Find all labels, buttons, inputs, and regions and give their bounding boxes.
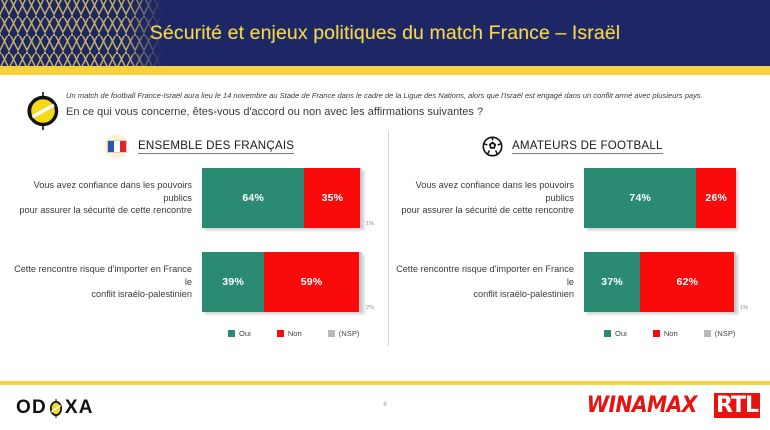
panel-ensemble-des-francais: ENSEMBLE DES FRANÇAIS Vous avez confianc… bbox=[10, 131, 386, 376]
chart-legend-left: Oui Non (NSP) bbox=[10, 329, 386, 338]
bar-segment-non: 62% bbox=[640, 252, 734, 312]
row-label-line2: pour assurer la sécurité de cette rencon… bbox=[392, 204, 574, 217]
odoxa-logo-icon bbox=[25, 91, 61, 131]
bar-segment-oui: 64% bbox=[202, 168, 304, 228]
winamax-logo: WINAMAX bbox=[587, 393, 697, 418]
bar-segment-non: 59% bbox=[264, 252, 358, 312]
bar-segment-nsp bbox=[359, 252, 362, 312]
legend-label-oui: Oui bbox=[239, 329, 251, 338]
row-label-line1: Cette rencontre risque d'importer en Fra… bbox=[396, 264, 574, 287]
legend-label-nsp: (NSP) bbox=[339, 329, 360, 338]
row-label-line2: conflit israélo-palestinien bbox=[392, 288, 574, 301]
legend-item-non: Non bbox=[277, 329, 302, 338]
stacked-bar: 74% 26% bbox=[584, 168, 736, 228]
bar-value-non: 59% bbox=[301, 276, 323, 288]
legend-swatch-oui bbox=[604, 330, 611, 337]
legend-item-oui: Oui bbox=[604, 329, 627, 338]
panel-title-left: ENSEMBLE DES FRANÇAIS bbox=[138, 139, 294, 154]
legend-item-oui: Oui bbox=[228, 329, 251, 338]
bar-value-non: 35% bbox=[322, 192, 344, 204]
legend-item-nsp: (NSP) bbox=[328, 329, 360, 338]
chart-row: Vous avez confiance dans les pouvoirs pu… bbox=[10, 167, 386, 229]
rtl-logo: RTL bbox=[714, 393, 760, 418]
panel-title-right: AMATEURS DE FOOTBALL bbox=[512, 139, 663, 154]
row-label-line1: Cette rencontre risque d'importer en Fra… bbox=[14, 264, 192, 287]
row-label: Cette rencontre risque d'importer en Fra… bbox=[10, 263, 202, 301]
header-accent-rule bbox=[0, 66, 770, 75]
intro-question-text: En ce qui vous concerne, êtes-vous d'acc… bbox=[66, 104, 766, 121]
bar-value-nsp: 2% bbox=[366, 305, 374, 311]
legend-label-non: Non bbox=[288, 329, 302, 338]
bar-segment-oui: 37% bbox=[584, 252, 640, 312]
panel-amateurs-de-football: AMATEURS DE FOOTBALL Vous avez confiance… bbox=[392, 131, 768, 376]
stacked-bar: 37% 62% 1% bbox=[584, 252, 736, 312]
legend-swatch-oui bbox=[228, 330, 235, 337]
bar-segment-non: 26% bbox=[696, 168, 736, 228]
panel-header-left: ENSEMBLE DES FRANÇAIS bbox=[10, 131, 386, 161]
stacked-bar: 64% 35% 1% bbox=[202, 168, 362, 228]
bar-segment-oui: 74% bbox=[584, 168, 696, 228]
legend-swatch-nsp bbox=[704, 330, 711, 337]
bar-segment-nsp bbox=[360, 168, 362, 228]
french-flag-icon bbox=[104, 134, 129, 159]
chart-row: Cette rencontre risque d'importer en Fra… bbox=[10, 251, 386, 313]
bar-segment-oui: 39% bbox=[202, 252, 264, 312]
bar-value-oui: 39% bbox=[222, 276, 244, 288]
bar-value-oui: 64% bbox=[242, 192, 264, 204]
legend-item-nsp: (NSP) bbox=[704, 329, 736, 338]
bar-segment-non: 35% bbox=[304, 168, 360, 228]
panel-divider bbox=[388, 131, 389, 346]
chart-rows-left: Vous avez confiance dans les pouvoirs pu… bbox=[10, 167, 386, 313]
row-label: Vous avez confiance dans les pouvoirs pu… bbox=[392, 179, 584, 217]
intro-block: Un match de football France-Israël aura … bbox=[66, 90, 766, 121]
chart-row: Vous avez confiance dans les pouvoirs pu… bbox=[392, 167, 768, 229]
legend-item-non: Non bbox=[653, 329, 678, 338]
legend-label-non: Non bbox=[664, 329, 678, 338]
chart-legend-right: Oui Non (NSP) bbox=[392, 329, 768, 338]
partner-logos: WINAMAX RTL bbox=[582, 393, 760, 418]
bar-value-non: 62% bbox=[677, 276, 699, 288]
intro-context-text: Un match de football France-Israël aura … bbox=[66, 90, 766, 102]
row-label-line1: Vous avez confiance dans les pouvoirs pu… bbox=[34, 180, 192, 203]
row-label: Vous avez confiance dans les pouvoirs pu… bbox=[10, 179, 202, 217]
page-title: Sécurité et enjeux politiques du match F… bbox=[0, 0, 770, 66]
bar-value-oui: 37% bbox=[601, 276, 623, 288]
legend-swatch-non bbox=[277, 330, 284, 337]
row-label: Cette rencontre risque d'importer en Fra… bbox=[392, 263, 584, 301]
row-label-line1: Vous avez confiance dans les pouvoirs pu… bbox=[416, 180, 574, 203]
row-label-line2: pour assurer la sécurité de cette rencon… bbox=[10, 204, 192, 217]
football-icon bbox=[482, 136, 503, 157]
bar-value-oui: 74% bbox=[629, 192, 651, 204]
legend-swatch-nsp bbox=[328, 330, 335, 337]
row-label-line2: conflit israélo-palestinien bbox=[10, 288, 192, 301]
legend-label-nsp: (NSP) bbox=[715, 329, 736, 338]
bar-value-nsp: 1% bbox=[366, 221, 374, 227]
bar-segment-nsp bbox=[734, 252, 736, 312]
legend-swatch-non bbox=[653, 330, 660, 337]
chart-rows-right: Vous avez confiance dans les pouvoirs pu… bbox=[392, 167, 768, 313]
bar-value-nsp: 1% bbox=[740, 305, 748, 311]
slide-header: Sécurité et enjeux politiques du match F… bbox=[0, 0, 770, 66]
chart-row: Cette rencontre risque d'importer en Fra… bbox=[392, 251, 768, 313]
bar-value-non: 26% bbox=[705, 192, 727, 204]
panel-header-right: AMATEURS DE FOOTBALL bbox=[392, 131, 768, 161]
stacked-bar: 39% 59% 2% bbox=[202, 252, 362, 312]
legend-label-oui: Oui bbox=[615, 329, 627, 338]
slide-footer: OD XA 8 WINAMAX RTL bbox=[0, 385, 770, 430]
